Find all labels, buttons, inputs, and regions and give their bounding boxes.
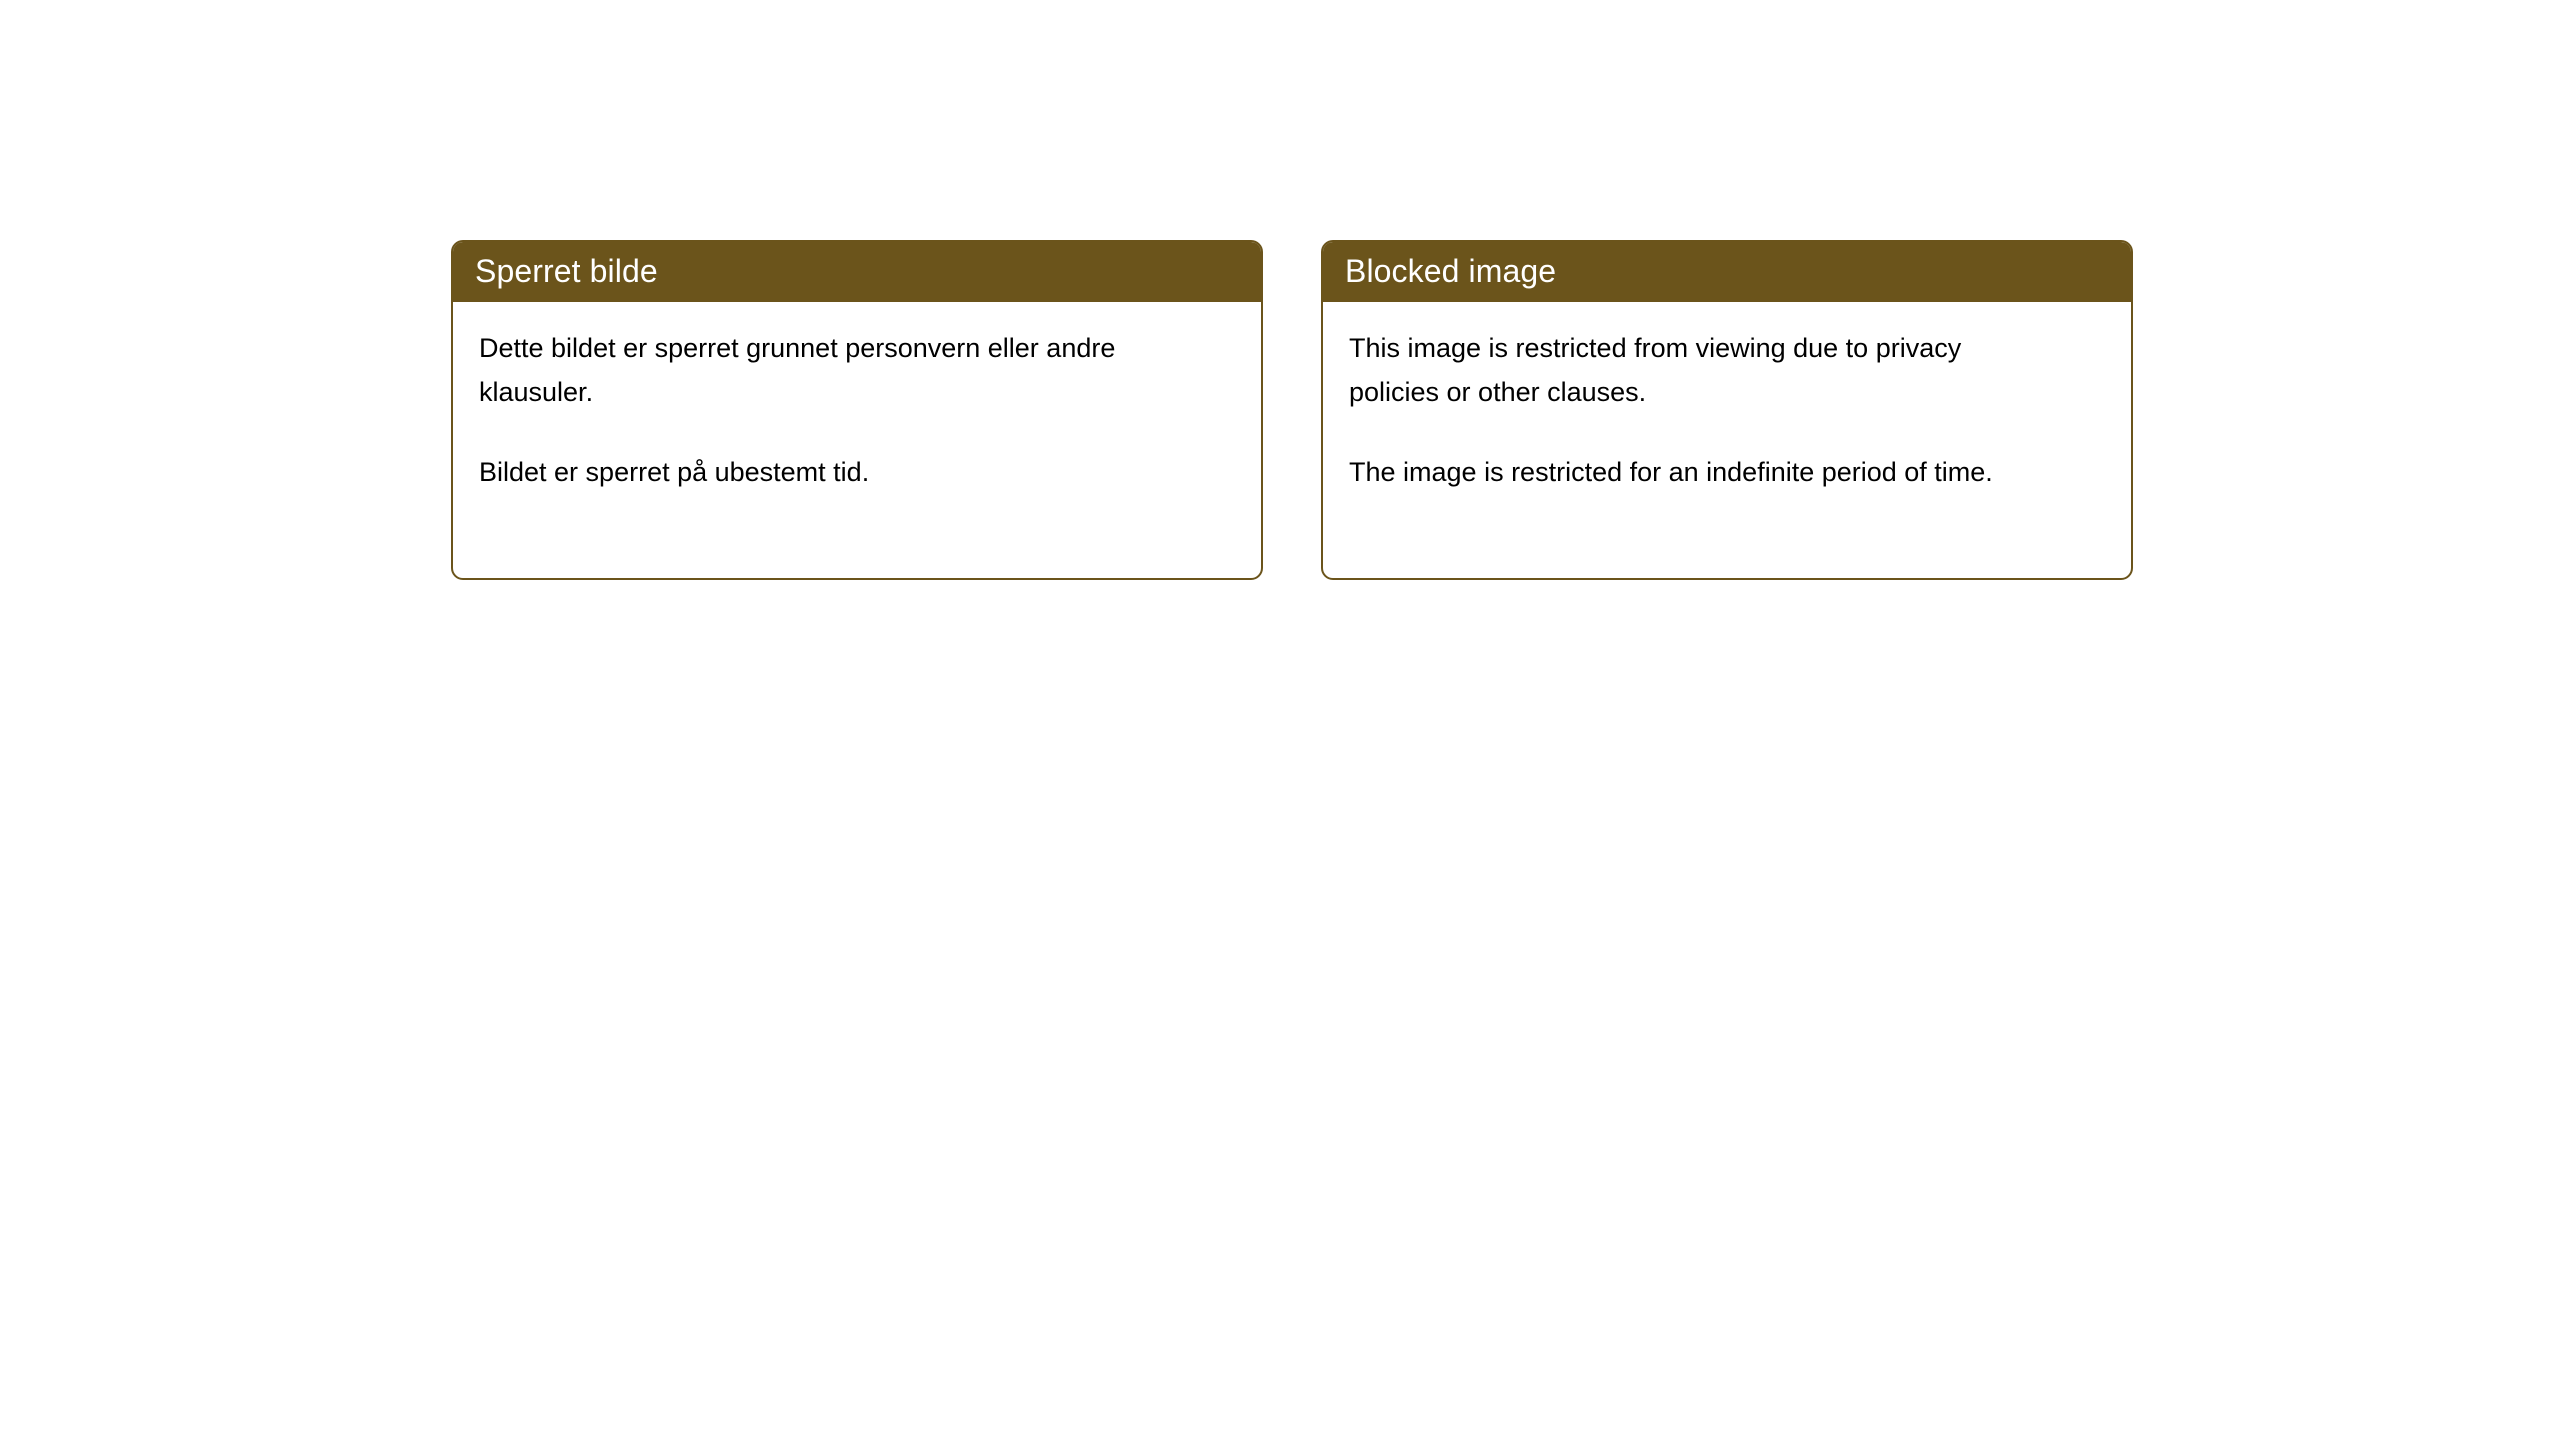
- panel-paragraph-reason-english: This image is restricted from viewing du…: [1349, 326, 2049, 414]
- panel-body-norwegian: Dette bildet er sperret grunnet personve…: [453, 302, 1261, 494]
- panel-paragraph-duration-english: The image is restricted for an indefinit…: [1349, 450, 2049, 494]
- panel-paragraph-reason-norwegian: Dette bildet er sperret grunnet personve…: [479, 326, 1179, 414]
- blocked-image-notice-english: Blocked image This image is restricted f…: [1321, 240, 2133, 580]
- panel-header-english: Blocked image: [1321, 240, 2133, 302]
- blocked-image-notice-norwegian: Sperret bilde Dette bildet er sperret gr…: [451, 240, 1263, 580]
- page-root: Sperret bilde Dette bildet er sperret gr…: [0, 0, 2560, 1440]
- panel-body-english: This image is restricted from viewing du…: [1323, 302, 2131, 494]
- panel-title-english: Blocked image: [1345, 255, 1556, 287]
- panel-paragraph-duration-norwegian: Bildet er sperret på ubestemt tid.: [479, 450, 1179, 494]
- panel-header-norwegian: Sperret bilde: [451, 240, 1263, 302]
- panel-title-norwegian: Sperret bilde: [475, 255, 658, 287]
